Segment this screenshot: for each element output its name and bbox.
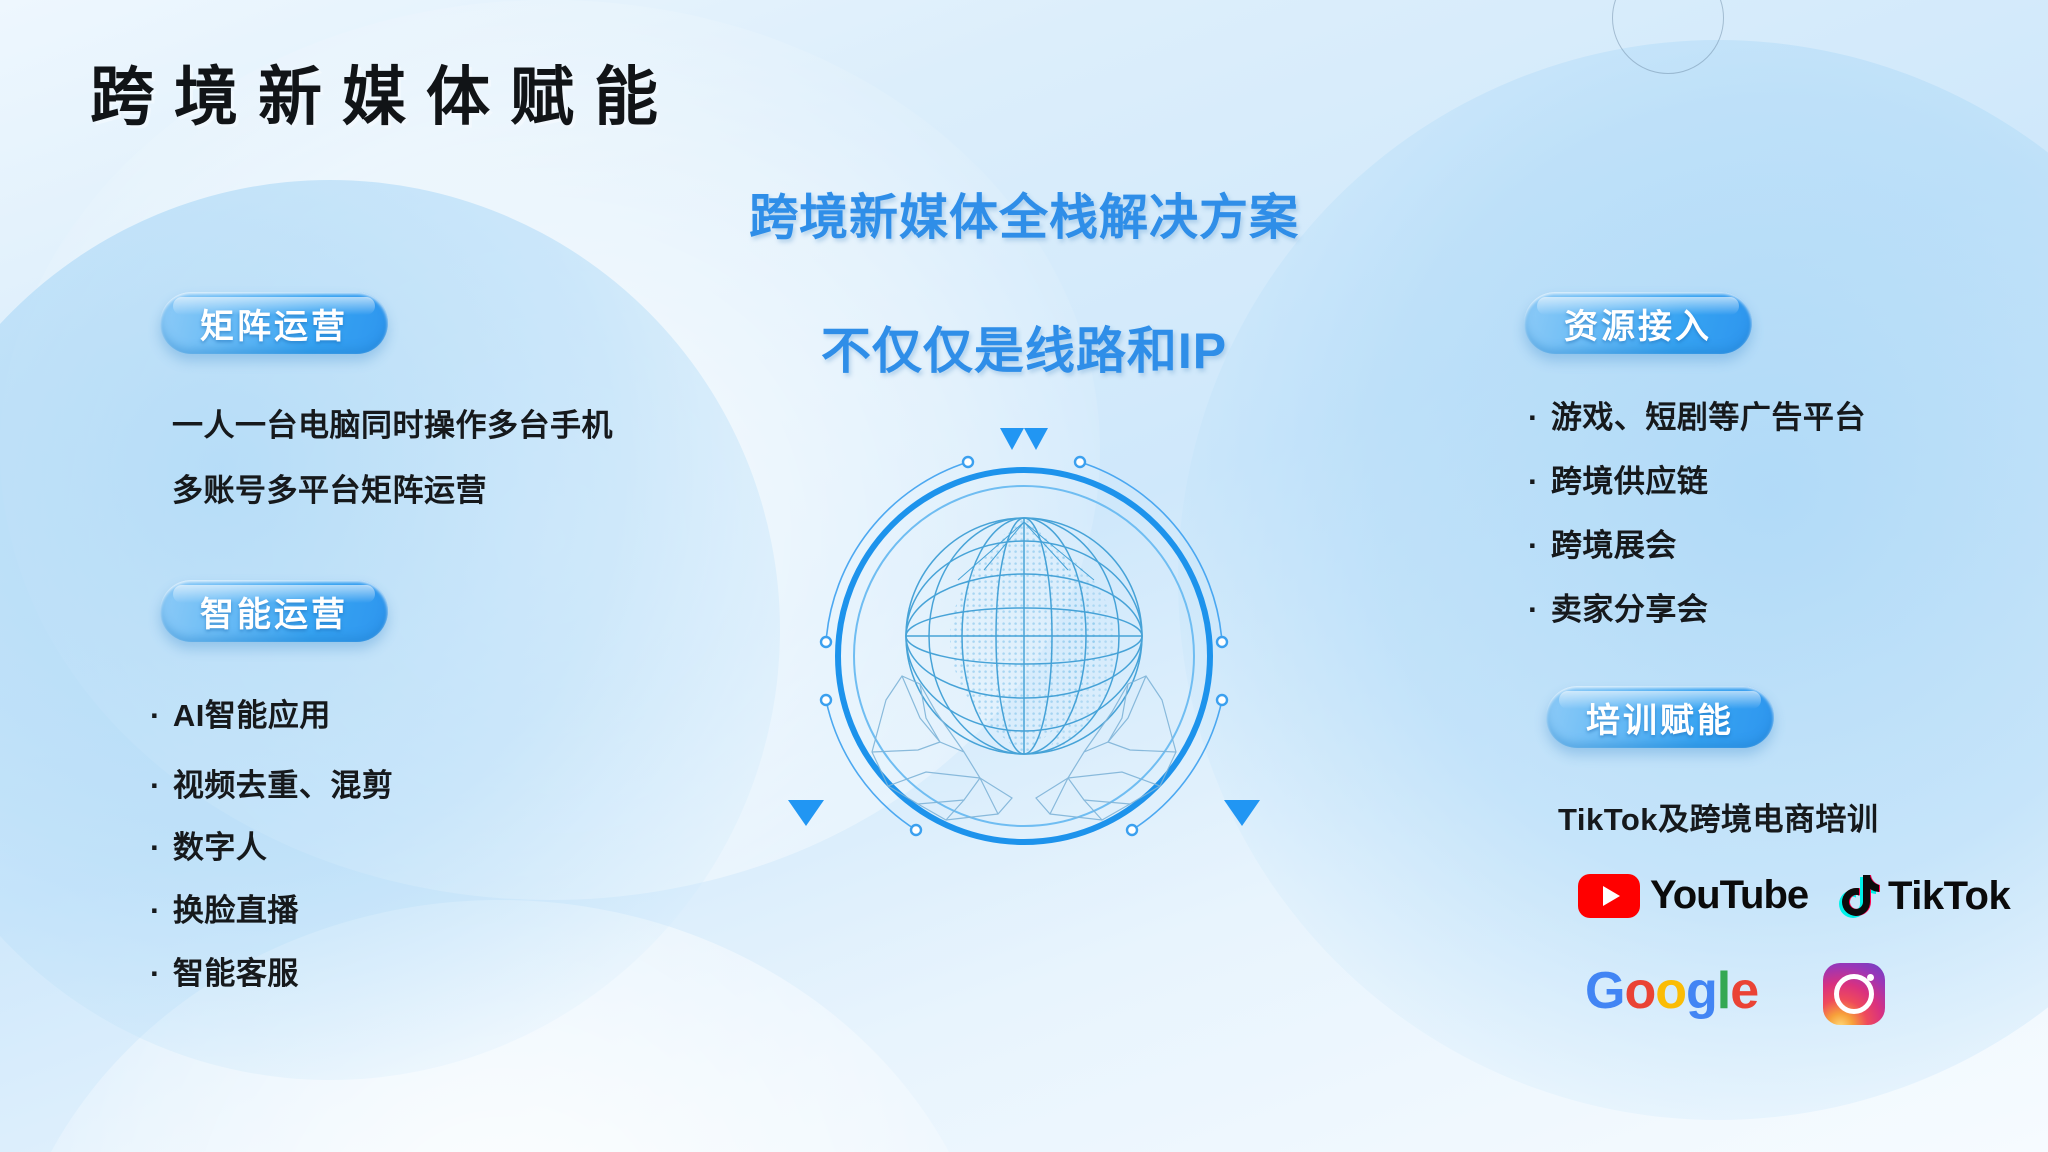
google-letter-e: e xyxy=(1730,965,1758,1017)
badge-training-empowerment[interactable]: 培训赋能 xyxy=(1546,686,1774,748)
list-item-label: 多账号多平台矩阵运营 xyxy=(172,473,487,508)
globe-in-hands-graphic xyxy=(768,400,1280,912)
bullet-marker: · xyxy=(1528,400,1539,435)
badge-matrix-operation[interactable]: 矩阵运营 xyxy=(160,292,388,354)
page-title: 跨境新媒体赋能 xyxy=(90,46,678,138)
google-letter-g1: G xyxy=(1585,965,1624,1017)
list-item: ·AI智能应用 xyxy=(150,690,331,735)
youtube-play-icon xyxy=(1578,874,1640,918)
badge-label: 矩阵运营 xyxy=(200,299,348,348)
google-letter-o1: o xyxy=(1624,965,1655,1017)
badge-label: 培训赋能 xyxy=(1586,693,1734,742)
youtube-logo[interactable]: YouTube xyxy=(1578,873,1808,918)
google-letter-o2: o xyxy=(1655,965,1686,1017)
badge-label: 智能运营 xyxy=(200,587,348,636)
list-item-label: 智能客服 xyxy=(173,956,299,991)
bullet-marker: · xyxy=(1528,528,1539,563)
list-item: ·视频去重、混剪 xyxy=(150,760,393,805)
list-item-label: 视频去重、混剪 xyxy=(173,768,394,803)
list-item: ·卖家分享会 xyxy=(1528,584,1708,629)
list-item: 多账号多平台矩阵运营 xyxy=(160,465,487,510)
list-item: 一人一台电脑同时操作多台手机 xyxy=(160,400,613,445)
google-wordmark: Google xyxy=(1585,965,1758,1017)
instagram-logo[interactable] xyxy=(1823,963,1885,1025)
background-highlight-bottom xyxy=(0,900,1000,1152)
center-heading-secondary: 不仅仅是线路和IP xyxy=(821,311,1227,383)
list-item-label: 换脸直播 xyxy=(173,893,299,928)
google-logo[interactable]: Google xyxy=(1585,965,1758,1017)
list-item: ·智能客服 xyxy=(150,948,299,993)
tiktok-logo[interactable]: TikTok xyxy=(1838,873,2010,919)
youtube-wordmark: YouTube xyxy=(1650,873,1808,918)
instagram-camera-icon xyxy=(1823,963,1885,1025)
list-item-label: 卖家分享会 xyxy=(1551,592,1709,627)
list-item: ·跨境展会 xyxy=(1528,520,1677,565)
badge-resource-access[interactable]: 资源接入 xyxy=(1524,292,1752,354)
decorative-circle-icon xyxy=(1612,0,1724,74)
list-item-label: 游戏、短剧等广告平台 xyxy=(1551,400,1866,435)
tiktok-note-icon xyxy=(1838,873,1880,919)
google-letter-g2: g xyxy=(1686,965,1717,1017)
bullet-marker: · xyxy=(150,893,161,928)
bullet-marker: · xyxy=(150,830,161,865)
list-item-label: TikTok及跨境电商培训 xyxy=(1558,802,1879,837)
background-blob-right xyxy=(1178,40,2048,1120)
list-item-label: 跨境供应链 xyxy=(1551,464,1709,499)
list-item-label: 一人一台电脑同时操作多台手机 xyxy=(172,408,613,443)
badge-label: 资源接入 xyxy=(1564,299,1712,348)
list-item: ·换脸直播 xyxy=(150,885,299,930)
bullet-marker: · xyxy=(1528,464,1539,499)
slide-root: 跨境新媒体赋能 跨境新媒体全栈解决方案 不仅仅是线路和IP xyxy=(0,0,2048,1152)
list-item: ·数字人 xyxy=(150,822,267,867)
tiktok-wordmark: TikTok xyxy=(1888,874,2010,919)
list-item: ·游戏、短剧等广告平台 xyxy=(1528,392,1866,437)
list-item: ·跨境供应链 xyxy=(1528,456,1708,501)
list-item-label: 跨境展会 xyxy=(1551,528,1677,563)
bullet-marker: · xyxy=(150,956,161,991)
globe-wireframe-icon xyxy=(768,400,1280,912)
list-item: TikTok及跨境电商培训 xyxy=(1546,794,1879,839)
badge-smart-operation[interactable]: 智能运营 xyxy=(160,580,388,642)
bullet-marker: · xyxy=(150,768,161,803)
center-heading-primary: 跨境新媒体全栈解决方案 xyxy=(749,178,1299,249)
list-item-label: 数字人 xyxy=(173,830,268,865)
google-letter-l: l xyxy=(1717,965,1730,1017)
list-item-label: AI智能应用 xyxy=(173,698,331,733)
bullet-marker: · xyxy=(150,698,161,733)
bullet-marker: · xyxy=(1528,592,1539,627)
